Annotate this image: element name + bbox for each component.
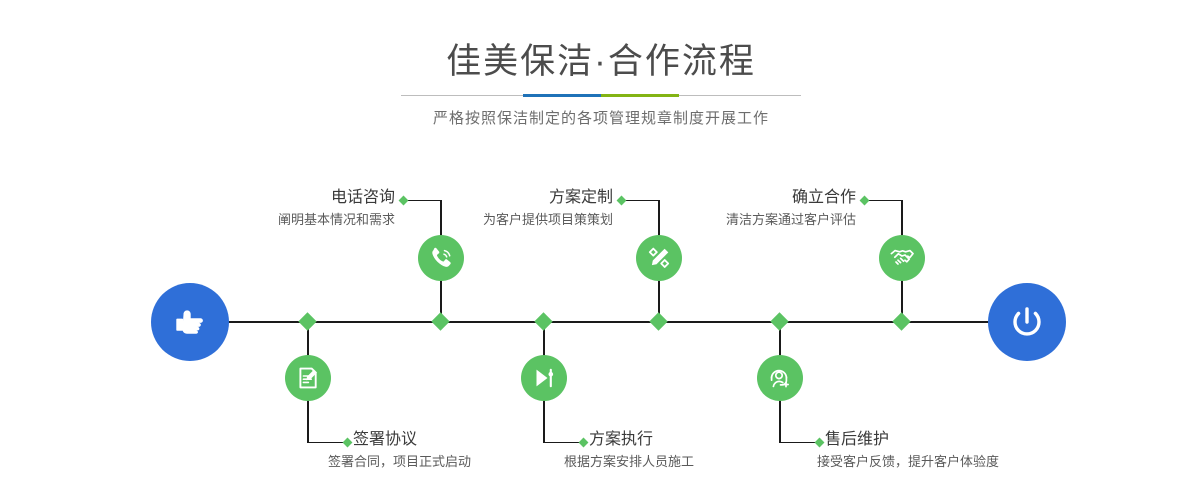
label-step-5: 确立合作 清洁方案通过客户评估 [606, 188, 856, 230]
node-icon-step-6[interactable] [757, 355, 803, 401]
label-title-step-4: 方案执行 [589, 430, 849, 450]
title-divider [401, 94, 801, 98]
page-subtitle: 严格按照保洁制定的各项管理规章制度开展工作 [0, 107, 1202, 128]
label-step-4: 方案执行 根据方案安排人员施工 [589, 430, 849, 472]
label-elbow-step-2 [308, 442, 346, 443]
label-diamond-step-2 [343, 438, 353, 448]
label-title-step-5: 确立合作 [606, 188, 856, 208]
power-button-icon [1005, 300, 1049, 344]
label-title-step-6: 售后维护 [825, 430, 1105, 450]
label-title-step-3: 方案定制 [363, 188, 613, 208]
document-edit-icon [294, 364, 322, 392]
timeline-end-badge [988, 283, 1066, 361]
axis-diamond-step-3 [649, 312, 667, 330]
label-desc-step-6: 接受客户反馈，提升客户体验度 [817, 452, 1105, 472]
label-desc-step-5: 清洁方案通过客户评估 [606, 210, 856, 230]
headset-support-icon [766, 364, 794, 392]
node-icon-step-2[interactable] [285, 355, 331, 401]
axis-diamond-step-2 [298, 312, 316, 330]
pencil-ruler-icon [645, 244, 673, 272]
axis-diamond-step-1 [431, 312, 449, 330]
divider-blue-segment [523, 94, 601, 97]
pointing-hand-icon [170, 302, 210, 342]
page-title: 佳美保洁·合作流程 [0, 44, 1202, 79]
axis-diamond-step-5 [892, 312, 910, 330]
label-desc-step-1: 阐明基本情况和需求 [145, 210, 395, 230]
label-desc-step-4: 根据方案安排人员施工 [564, 452, 849, 472]
axis-diamond-step-6 [770, 312, 788, 330]
label-title-step-2: 签署协议 [353, 430, 613, 450]
label-step-3: 方案定制 为客户提供项目策策划 [363, 188, 613, 230]
timeline-start-badge [151, 283, 229, 361]
flow-chart-page: 佳美保洁·合作流程 严格按照保洁制定的各项管理规章制度开展工作 [0, 0, 1202, 502]
node-icon-step-1[interactable] [418, 235, 464, 281]
divider-right-line [679, 95, 801, 96]
phone-call-icon [427, 244, 455, 272]
timeline-axis [160, 321, 1044, 323]
axis-diamond-step-4 [534, 312, 552, 330]
node-icon-step-4[interactable] [521, 355, 567, 401]
handshake-icon [888, 244, 916, 272]
play-execute-icon [530, 364, 558, 392]
label-desc-step-3: 为客户提供项目策策划 [363, 210, 613, 230]
label-title-step-1: 电话咨询 [145, 188, 395, 208]
label-step-1: 电话咨询 阐明基本情况和需求 [145, 188, 395, 230]
node-icon-step-5[interactable] [879, 235, 925, 281]
label-step-6: 售后维护 接受客户反馈，提升客户体验度 [825, 430, 1105, 472]
node-icon-step-3[interactable] [636, 235, 682, 281]
divider-green-segment [601, 94, 679, 97]
divider-left-line [401, 95, 523, 96]
label-diamond-step-5 [860, 196, 870, 206]
